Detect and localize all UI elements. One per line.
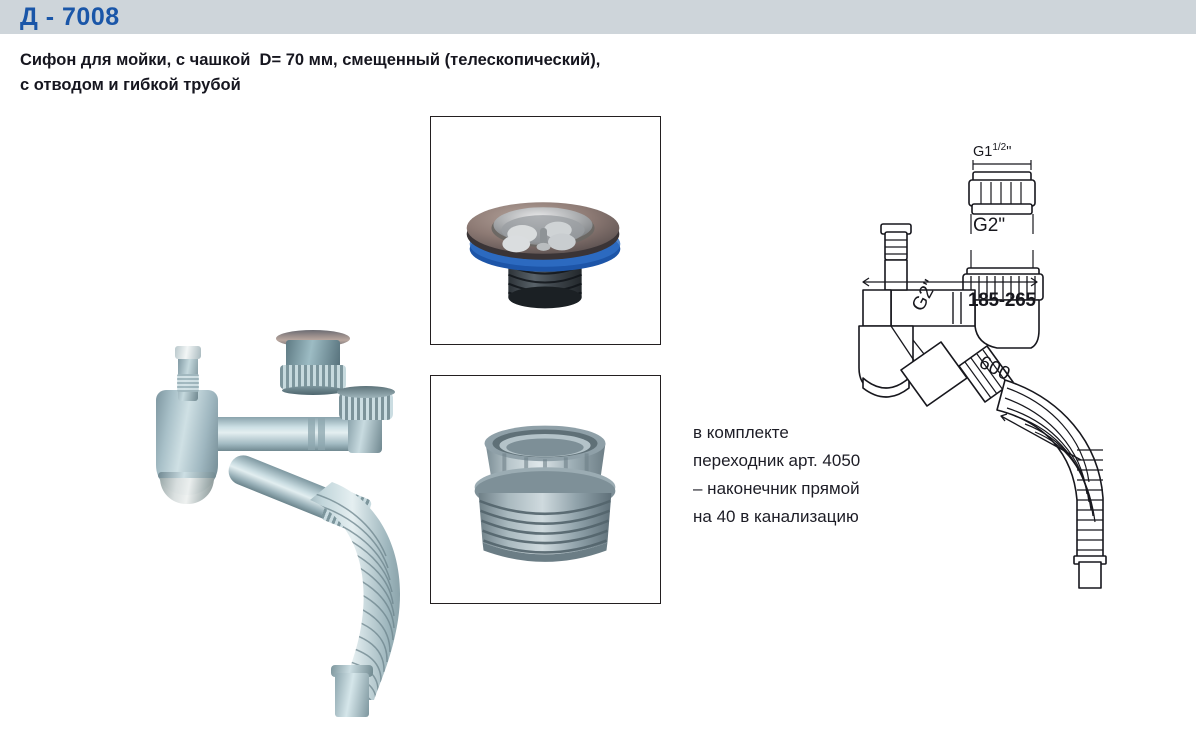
siphon-arm-joint [308, 418, 315, 450]
header-banner: Д - 7008 [0, 0, 1196, 34]
siphon-bowl-cap [160, 478, 214, 504]
siphon-inlet-nut-top [337, 386, 395, 398]
threaded-adapter-photo [431, 376, 660, 603]
sink-drain-strainer-photo [431, 117, 660, 344]
g1-fraction: 1/2 [992, 142, 1006, 153]
g1-suffix: " [1006, 144, 1011, 160]
siphon-overflow-rings [177, 374, 199, 392]
tech-drawing-lines [855, 130, 1185, 590]
product-description: Сифон для мойки, с чашкой D= 70 мм, смещ… [20, 48, 920, 98]
label-thread-g2: G2" [973, 215, 1005, 237]
label-height-range: 185-265 [968, 290, 1036, 312]
siphon-overflow-cap [175, 346, 201, 359]
description-line-1: Сифон для мойки, с чашкой D= 70 мм, смещ… [20, 48, 920, 73]
hose-outlet-tip [335, 673, 369, 717]
product-code: Д - 7008 [20, 3, 120, 32]
description-line-2: с отводом и гибкой трубой [20, 73, 920, 98]
photo-box-strainer [430, 116, 661, 345]
label-thread-g1-half: G11/2" [973, 142, 1011, 160]
photo-box-adapter [430, 375, 661, 604]
siphon-arm-joint [318, 418, 325, 450]
strainer-nut-bottom [282, 386, 344, 395]
g1-text: G1 [973, 144, 992, 160]
siphon-assembly-photo [80, 160, 410, 580]
siphon-technical-drawing: G11/2" G2" 185-265 G2" 600 [855, 130, 1185, 590]
